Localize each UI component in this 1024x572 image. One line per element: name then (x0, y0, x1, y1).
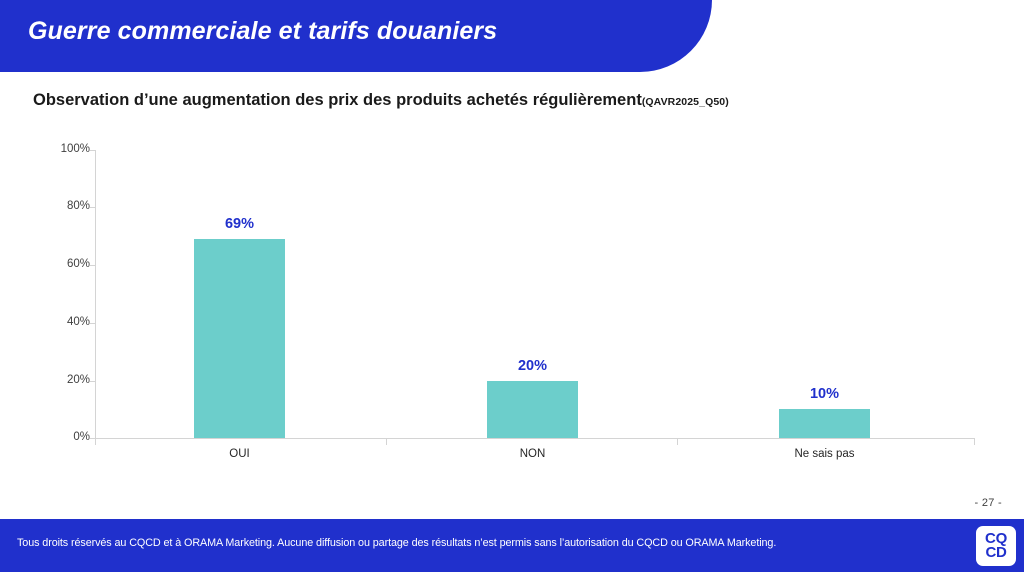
x-axis-label-non: NON (483, 449, 582, 461)
bar-value-non: 20% (483, 359, 582, 374)
y-axis-label-0: 0% (40, 432, 90, 444)
x-axis-tick (677, 438, 678, 445)
x-axis-label-oui: OUI (190, 449, 289, 461)
bar-chart: 100% 80% 60% 40% 20% 0% 69% OUI 20% NON … (0, 0, 1024, 572)
y-axis-line (95, 150, 96, 439)
bar-oui[interactable] (194, 239, 285, 438)
x-axis-line (95, 438, 975, 439)
x-axis-tick (95, 438, 96, 445)
y-axis-tick (90, 323, 95, 324)
y-axis-tick (90, 265, 95, 266)
bar-non[interactable] (487, 381, 578, 438)
bar-ne-sais-pas[interactable] (779, 409, 870, 438)
cqcd-logo-line2: CD (985, 546, 1006, 560)
x-axis-label-ne-sais-pas: Ne sais pas (775, 449, 874, 461)
bar-value-ne-sais-pas: 10% (775, 387, 874, 402)
cqcd-logo: CQ CD (976, 526, 1016, 566)
footer-copyright-text: Tous droits réservés au CQCD et à ORAMA … (17, 537, 776, 549)
x-axis-tick (974, 438, 975, 445)
y-axis-label-100: 100% (40, 144, 90, 156)
page-number: - 27 - (975, 497, 1002, 509)
y-axis-label-60: 60% (40, 259, 90, 271)
y-axis-tick (90, 150, 95, 151)
x-axis-tick (386, 438, 387, 445)
y-axis-label-80: 80% (40, 201, 90, 213)
slide-footer-bar: Tous droits réservés au CQCD et à ORAMA … (0, 519, 1024, 572)
y-axis-label-40: 40% (40, 317, 90, 329)
y-axis-label-20: 20% (40, 375, 90, 387)
y-axis-tick (90, 207, 95, 208)
y-axis-tick (90, 381, 95, 382)
bar-value-oui: 69% (190, 217, 289, 232)
